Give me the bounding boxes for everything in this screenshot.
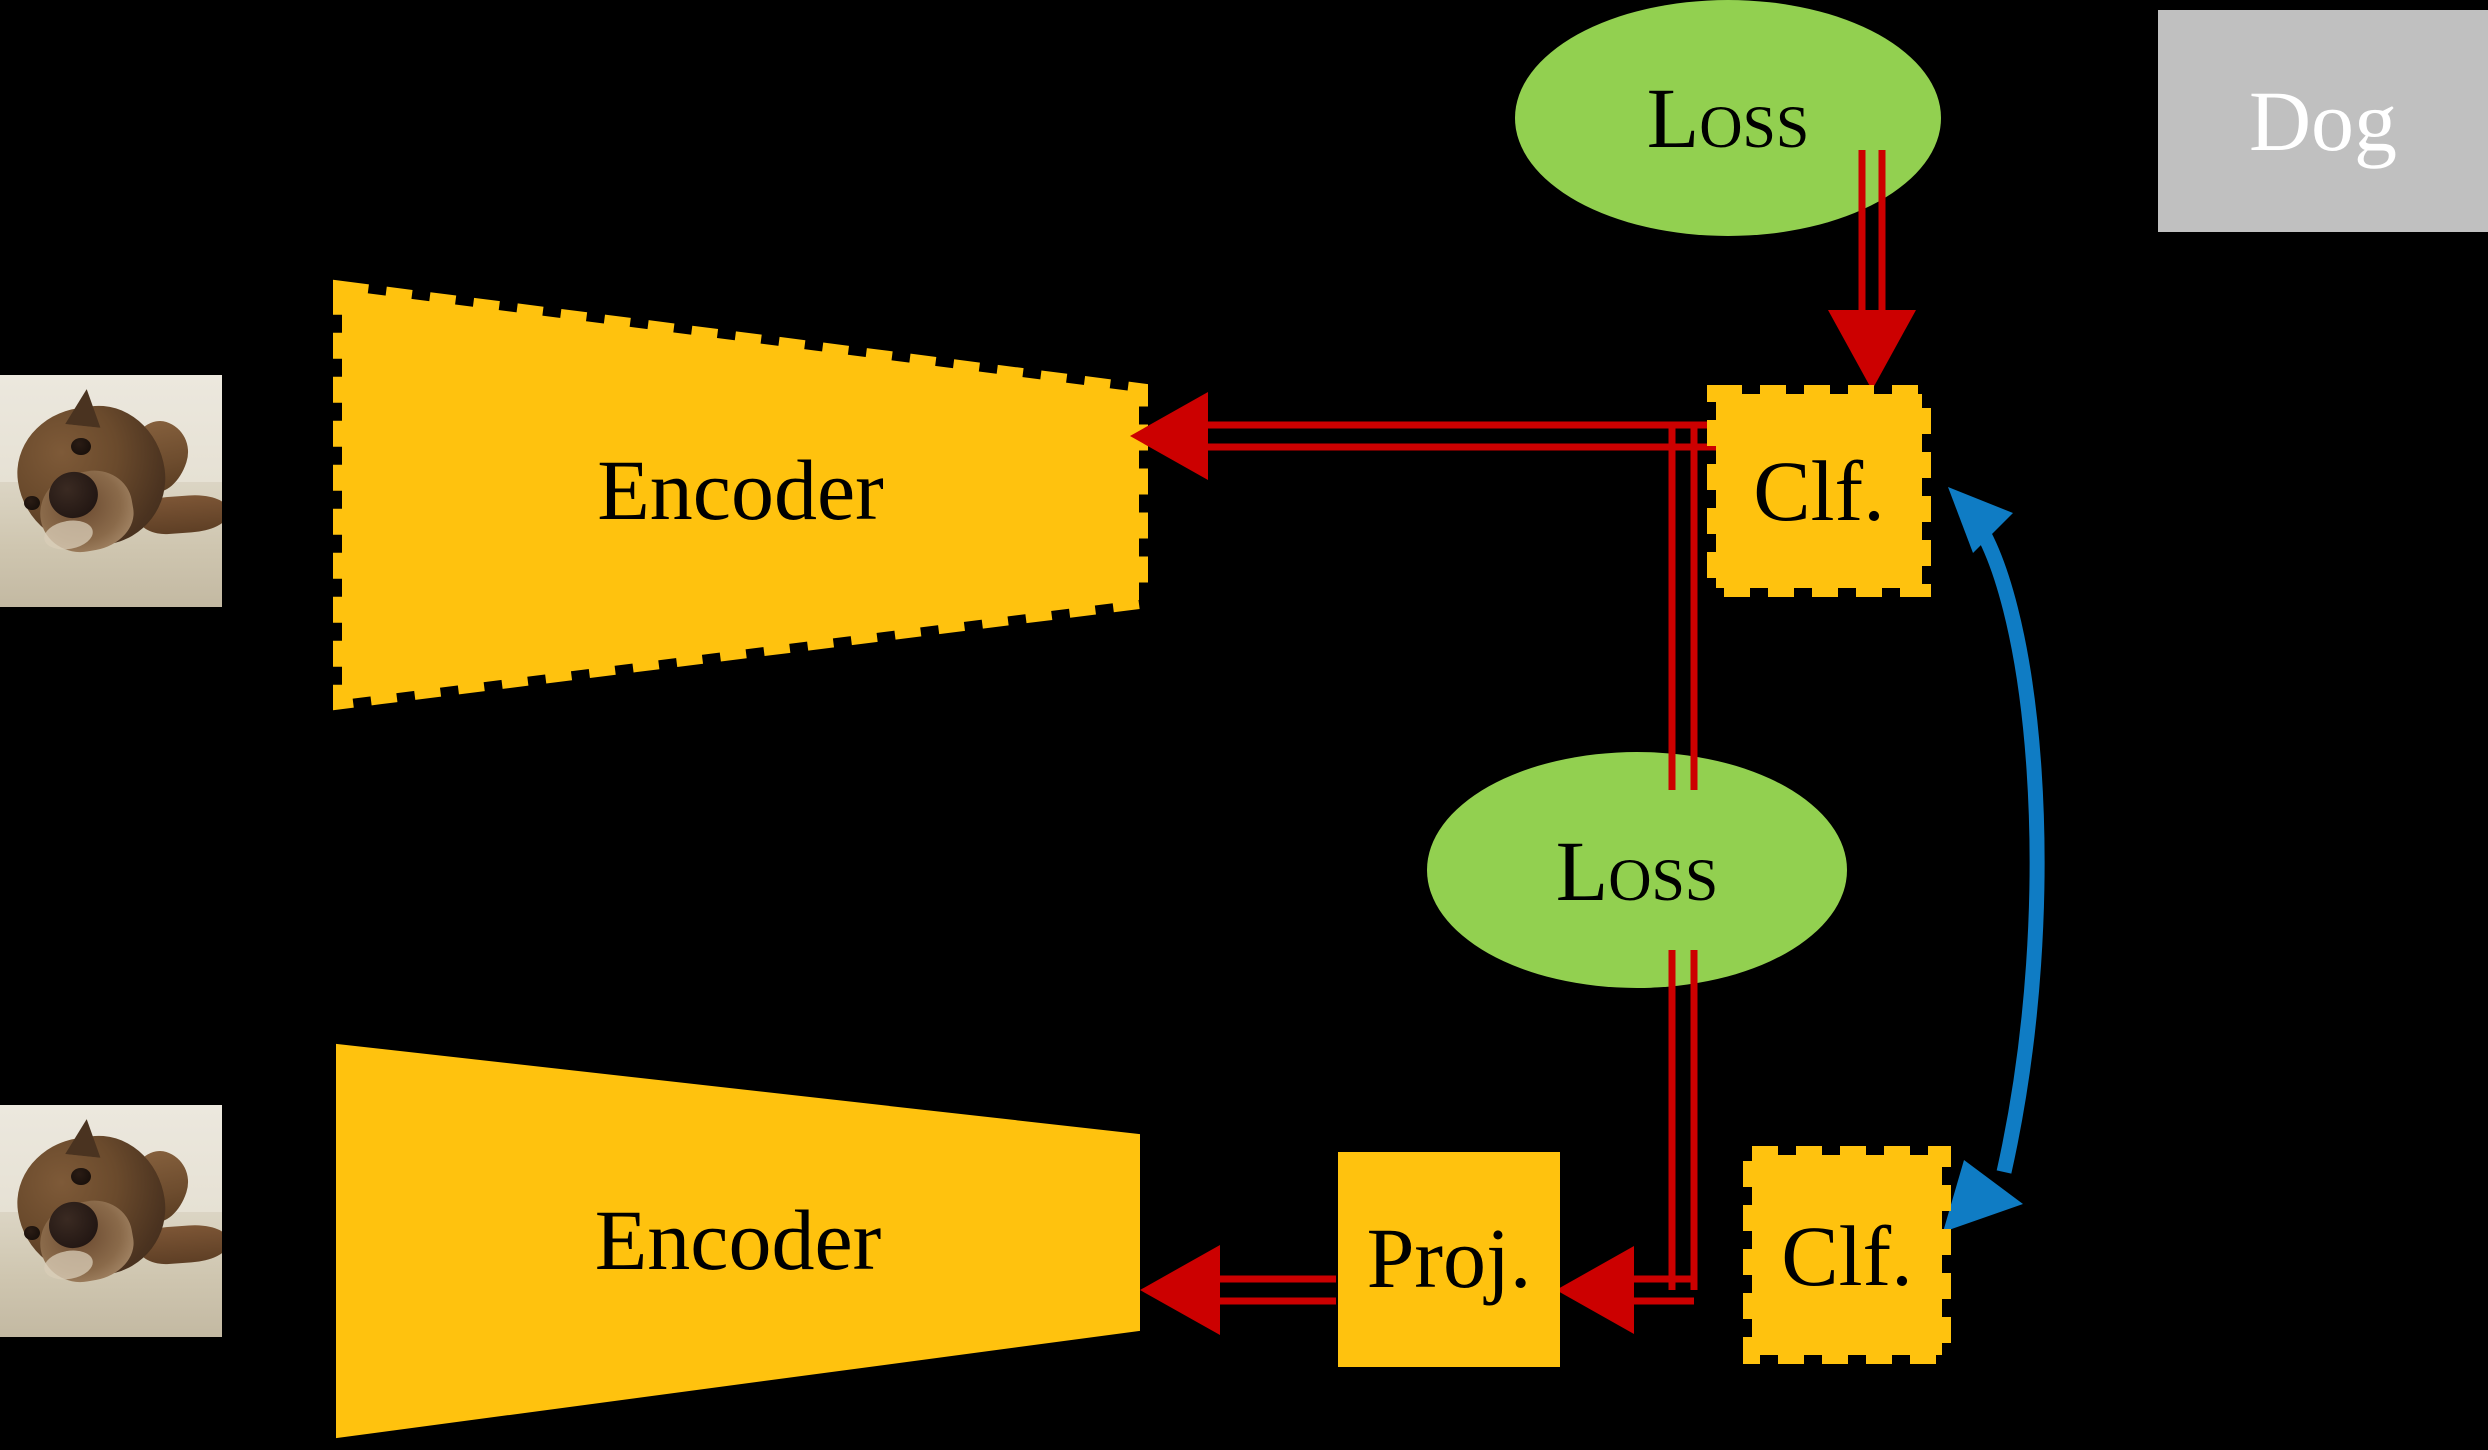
distill-loss-downward-trunk bbox=[1672, 950, 1694, 1290]
supervised-loss-shape[interactable] bbox=[1515, 0, 1941, 236]
projection-shape[interactable] bbox=[1338, 1152, 1560, 1367]
teacher-classifier-shape[interactable] bbox=[1716, 394, 1922, 588]
proj-to-student-encoder-arrowhead bbox=[1140, 1245, 1220, 1335]
student-encoder-shape[interactable] bbox=[337, 1045, 1139, 1437]
student-clf-to-proj-arrowhead bbox=[1556, 1246, 1634, 1334]
distill-loss-upward-trunk bbox=[1672, 425, 1694, 790]
ground-truth-label: Dog bbox=[2158, 10, 2488, 232]
distillation-loss-shape[interactable] bbox=[1427, 752, 1847, 988]
teacher-clf-to-encoder-arrow bbox=[1175, 425, 1720, 447]
ground-truth-text: Dog bbox=[2249, 71, 2397, 171]
loss-to-teacher-clf-arrowhead bbox=[1828, 310, 1916, 390]
clf-to-clf-distillation-arrow bbox=[1968, 510, 2037, 1172]
diagram-canvas: Encoder Encoder Loss Loss Clf. Clf. Proj… bbox=[0, 0, 2488, 1450]
teacher-encoder-shape[interactable] bbox=[342, 290, 1139, 700]
distillation-arrowhead-top bbox=[1948, 487, 2013, 553]
student-classifier-shape[interactable] bbox=[1752, 1155, 1942, 1355]
